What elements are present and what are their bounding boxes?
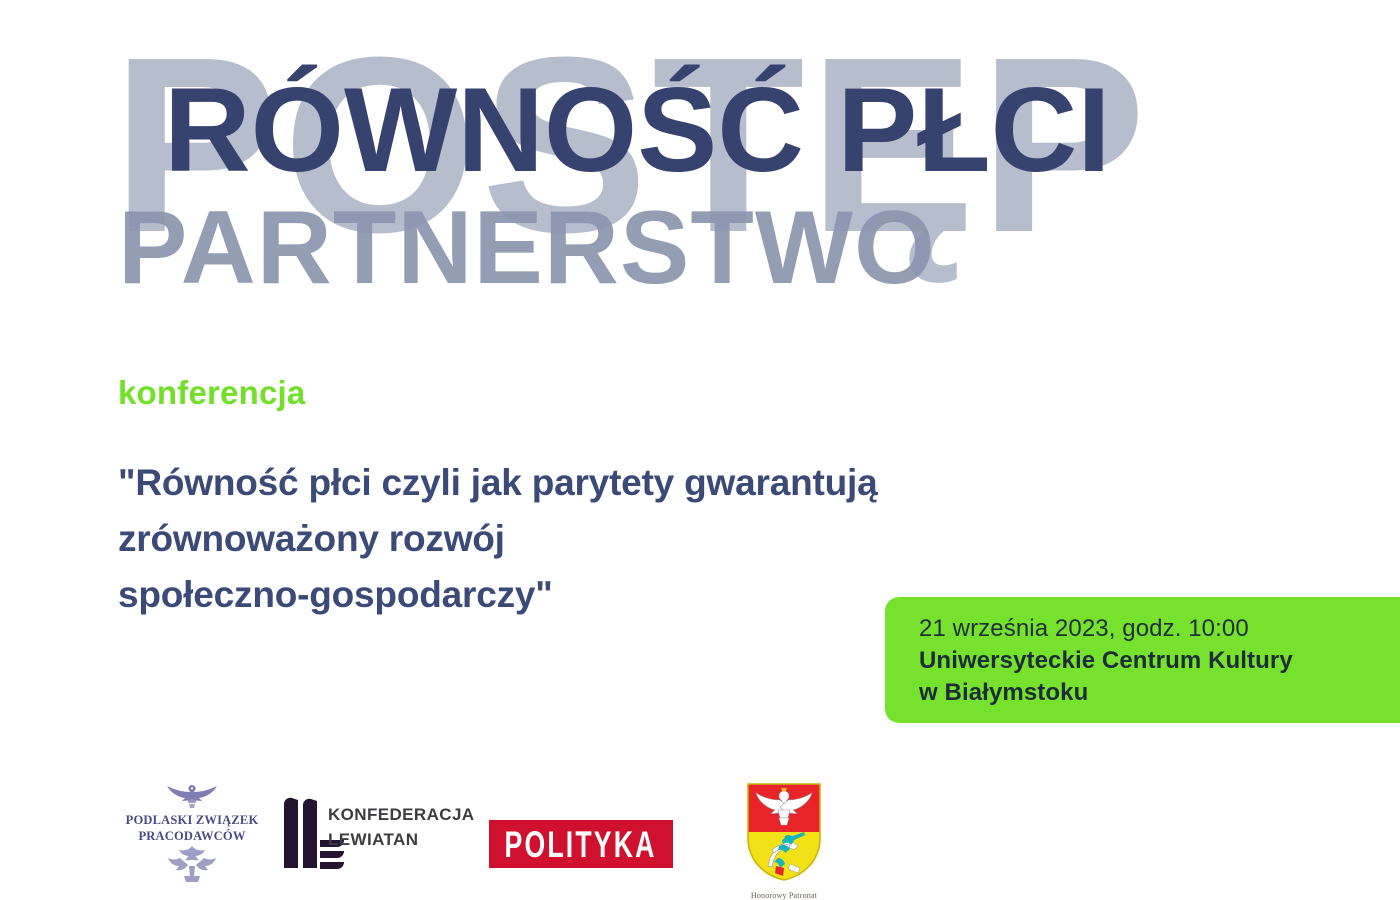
event-date-time: 21 września 2023, godz. 10:00	[919, 613, 1400, 645]
event-venue-line-2: w Białymstoku	[919, 677, 1400, 709]
bialystok-coat-of-arms-icon	[738, 780, 830, 884]
foreground-word-rownosc-plci: RÓWNOŚĆ PŁCI	[164, 70, 1111, 190]
logo-herb-caption: Honorowy Patronat	[738, 891, 830, 900]
logo-konfederacja-lewiatan: KONFEDERACJA LEWIATAN	[282, 794, 472, 878]
logo-lewiatan-line-2: LEWIATAN	[328, 828, 474, 853]
event-details-box: 21 września 2023, godz. 10:00 Uniwersyte…	[885, 597, 1400, 723]
logo-podlaski-line-2: PRACODAWCÓW	[112, 829, 272, 844]
logo-lewiatan-wordmark: KONFEDERACJA LEWIATAN	[328, 803, 474, 852]
logo-podlaski-zwiazek-pracodawcow: PODLASKI ZWIĄZEK PRACODAWCÓW	[112, 782, 272, 894]
logo-polityka-wordmark: POLITYKA	[505, 826, 657, 863]
logo-bialystok-herb: Honorowy Patronat	[738, 780, 830, 900]
oak-leaf-ornament-icon	[156, 846, 228, 884]
event-venue-line-1: Uniwersyteckie Centrum Kultury	[919, 645, 1400, 677]
middle-word-partnerstwo: PARTNERSTWO	[118, 196, 936, 300]
sponsor-logo-strip: PODLASKI ZWIĄZEK PRACODAWCÓW	[0, 772, 1400, 900]
eyebrow-label-konferencja: konferencja	[118, 374, 305, 412]
logo-podlaski-line-1: PODLASKI ZWIĄZEK	[112, 813, 272, 828]
logo-lewiatan-line-1: KONFEDERACJA	[328, 803, 474, 828]
eagle-emblem-icon	[157, 782, 227, 812]
quote-line-1: "Równość płci czyli jak parytety gwarant…	[118, 455, 1118, 511]
quote-line-2: zrównoważony rozwój	[118, 511, 1118, 567]
logo-polityka: POLITYKA	[489, 820, 673, 868]
hero-title-block: POSTĘP PARTNERSTWO RÓWNOŚĆ PŁCI	[0, 0, 1400, 360]
